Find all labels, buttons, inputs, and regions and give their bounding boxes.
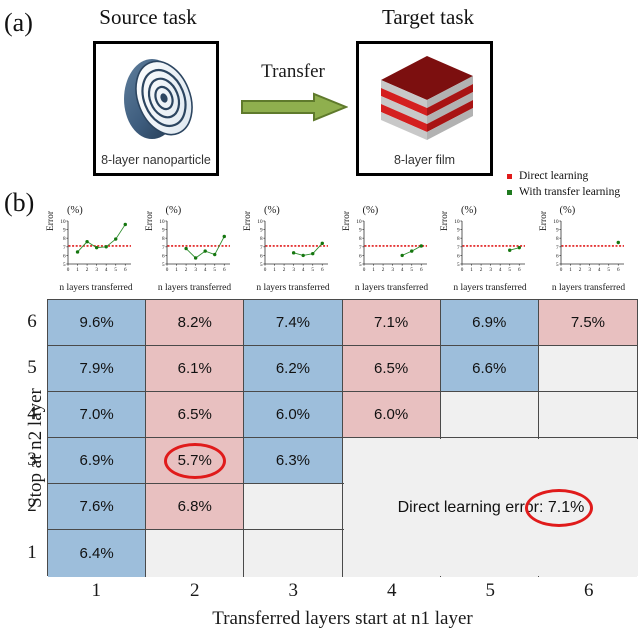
svg-text:5: 5: [311, 267, 314, 273]
table-row: 7.9%6.1%6.2%6.5%6.6%: [48, 346, 637, 392]
svg-text:10: 10: [553, 219, 559, 225]
svg-text:5: 5: [410, 267, 413, 273]
target-box-caption: 8-layer film: [359, 153, 490, 167]
heatmap-cell-value: 6.4%: [79, 545, 113, 562]
legend-item-direct-learning: Direct learning: [505, 168, 640, 184]
heatmap-cell-value: 6.3%: [276, 452, 310, 469]
miniplot-x-axis-label: n layers transferred: [540, 283, 638, 293]
legend-label-direct-learning: Direct learning: [519, 170, 588, 182]
svg-text:8: 8: [556, 236, 559, 242]
heatmap-cell-value: 6.5%: [178, 406, 212, 423]
miniplot-canvas: 56789100123456: [550, 218, 626, 276]
heatmap-cell-n1-6-n2-4[interactable]: [539, 392, 637, 438]
svg-text:0: 0: [165, 267, 168, 273]
miniplot-row: (%)Error56789100123456n layers transferr…: [47, 205, 638, 298]
miniplot-5: (%)Error56789100123456n layers transferr…: [441, 205, 540, 298]
svg-text:5: 5: [213, 267, 216, 273]
svg-text:8: 8: [162, 236, 165, 242]
svg-text:7: 7: [260, 245, 263, 251]
svg-text:1: 1: [76, 267, 79, 273]
svg-text:6: 6: [457, 253, 460, 259]
svg-text:9: 9: [162, 228, 165, 234]
miniplot-3: (%)Error56789100123456n layers transferr…: [244, 205, 343, 298]
heatmap-cell-n1-1-n2-6[interactable]: 9.6%: [48, 300, 146, 346]
miniplot-unit-label: (%): [461, 205, 477, 216]
y-axis-title: Stop at n2 layer: [25, 358, 47, 538]
miniplot-y-axis-label: Error: [46, 211, 56, 231]
heatmap-cell-n1-1-n2-2[interactable]: 7.6%: [48, 484, 146, 530]
heatmap-cell-n1-2-n2-4[interactable]: 6.5%: [146, 392, 244, 438]
heatmap-cell-value: 9.6%: [79, 314, 113, 331]
heatmap-cell-n1-3-n2-2[interactable]: [244, 484, 342, 530]
note-highlight-ellipse: [525, 489, 593, 527]
heatmap-cell-n1-1-n2-4[interactable]: 7.0%: [48, 392, 146, 438]
heatmap-cell-n1-5-n2-5[interactable]: 6.6%: [441, 346, 539, 392]
svg-text:6: 6: [162, 253, 165, 259]
miniplot-canvas: 56789100123456: [353, 218, 429, 276]
miniplot-canvas: 56789100123456: [57, 218, 133, 276]
heatmap-cell-value: 7.1%: [374, 314, 408, 331]
miniplot-y-axis-label: Error: [440, 211, 450, 231]
heatmap-cell-value: 6.9%: [79, 452, 113, 469]
legend-swatch-red: [507, 174, 512, 179]
heatmap-cell-value: 8.2%: [178, 314, 212, 331]
legend-item-transfer-learning: With transfer learning: [505, 184, 640, 200]
miniplot-1: (%)Error56789100123456n layers transferr…: [47, 205, 146, 298]
miniplot-4: (%)Error56789100123456n layers transferr…: [343, 205, 442, 298]
miniplot-unit-label: (%): [67, 205, 83, 216]
svg-text:0: 0: [559, 267, 562, 273]
miniplot-x-axis-label: n layers transferred: [146, 283, 244, 293]
svg-text:6: 6: [359, 253, 362, 259]
heatmap-cell-value: 6.2%: [276, 360, 310, 377]
heatmap-cell-value: 7.6%: [79, 498, 113, 515]
svg-text:5: 5: [162, 262, 165, 268]
svg-text:5: 5: [63, 262, 66, 268]
x-axis-tick-4: 4: [343, 580, 442, 606]
svg-text:6: 6: [124, 267, 127, 273]
svg-text:9: 9: [63, 228, 66, 234]
heatmap-cell-value: 7.0%: [79, 406, 113, 423]
transfer-arrow-icon: [240, 92, 348, 122]
svg-text:3: 3: [489, 267, 492, 273]
svg-text:2: 2: [381, 267, 384, 273]
svg-text:2: 2: [480, 267, 483, 273]
svg-text:7: 7: [457, 245, 460, 251]
miniplot-unit-label: (%): [264, 205, 280, 216]
svg-text:1: 1: [569, 267, 572, 273]
svg-text:9: 9: [556, 228, 559, 234]
x-axis-ticks: 123456: [47, 580, 638, 606]
svg-text:6: 6: [518, 267, 521, 273]
svg-text:6: 6: [321, 267, 324, 273]
legend: Direct learning With transfer learning: [505, 168, 640, 200]
svg-text:6: 6: [616, 267, 619, 273]
x-axis-tick-5: 5: [441, 580, 540, 606]
svg-text:8: 8: [359, 236, 362, 242]
svg-text:0: 0: [67, 267, 70, 273]
svg-text:7: 7: [359, 245, 362, 251]
heatmap-cell-n1-3-n2-5[interactable]: 6.2%: [244, 346, 342, 392]
heatmap-cell-value: 6.9%: [472, 314, 506, 331]
heatmap-cell-value: 7.4%: [276, 314, 310, 331]
svg-text:5: 5: [556, 262, 559, 268]
target-task-title: Target task: [348, 5, 508, 30]
svg-text:4: 4: [203, 267, 206, 273]
svg-text:4: 4: [302, 267, 305, 273]
miniplot-x-axis-label: n layers transferred: [47, 283, 145, 293]
svg-text:1: 1: [273, 267, 276, 273]
heatmap-cell-n1-6-n2-5[interactable]: [539, 346, 637, 392]
svg-text:10: 10: [257, 219, 263, 225]
svg-text:4: 4: [400, 267, 403, 273]
svg-text:10: 10: [454, 219, 460, 225]
legend-swatch-green: [507, 190, 512, 195]
svg-text:5: 5: [359, 262, 362, 268]
heatmap-cell-n1-2-n2-6[interactable]: 8.2%: [146, 300, 244, 346]
table-row: 7.0%6.5%6.0%6.0%: [48, 392, 637, 438]
best-value-highlight-ellipse: [164, 443, 226, 479]
miniplot-y-axis-label: Error: [243, 211, 253, 231]
svg-text:6: 6: [260, 253, 263, 259]
multilayer-film-icon: [375, 50, 479, 146]
heatmap-cell-n1-3-n2-6[interactable]: 7.4%: [244, 300, 342, 346]
svg-text:1: 1: [175, 267, 178, 273]
heatmap-cell-n1-2-n2-1[interactable]: [146, 530, 244, 576]
table-row: 9.6%8.2%7.4%7.1%6.9%7.5%: [48, 300, 637, 346]
heatmap-cell-value: 6.1%: [178, 360, 212, 377]
heatmap-cell-value: 6.5%: [374, 360, 408, 377]
heatmap-cell-n1-4-n2-6[interactable]: 7.1%: [343, 300, 441, 346]
svg-text:9: 9: [457, 228, 460, 234]
source-task-title: Source task: [68, 5, 228, 30]
x-axis-tick-3: 3: [244, 580, 343, 606]
svg-text:0: 0: [362, 267, 365, 273]
heatmap-cell-value: 6.0%: [374, 406, 408, 423]
miniplot-y-axis-label: Error: [539, 211, 549, 231]
miniplot-canvas: 56789100123456: [451, 218, 527, 276]
transfer-label: Transfer: [238, 61, 348, 83]
heatmap-cell-n1-1-n2-1[interactable]: 6.4%: [48, 530, 146, 576]
svg-text:7: 7: [63, 245, 66, 251]
x-axis-tick-6: 6: [540, 580, 639, 606]
svg-text:6: 6: [63, 253, 66, 259]
svg-text:5: 5: [260, 262, 263, 268]
heatmap-cell-value: 6.6%: [472, 360, 506, 377]
svg-text:0: 0: [461, 267, 464, 273]
svg-text:4: 4: [597, 267, 600, 273]
svg-text:3: 3: [391, 267, 394, 273]
heatmap-cell-n1-3-n2-3[interactable]: 6.3%: [244, 438, 342, 484]
heatmap-cell-value: 6.0%: [276, 406, 310, 423]
nanoparticle-icon: [112, 52, 206, 144]
miniplot-x-axis-label: n layers transferred: [244, 283, 342, 293]
heatmap-cell-n1-2-n2-3[interactable]: 5.7%: [146, 438, 244, 484]
error-heatmap-table: 9.6%8.2%7.4%7.1%6.9%7.5%7.9%6.1%6.2%6.5%…: [47, 299, 638, 576]
miniplot-2: (%)Error56789100123456n layers transferr…: [146, 205, 245, 298]
legend-label-transfer-learning: With transfer learning: [519, 186, 620, 198]
panel-label-a: (a): [4, 8, 33, 38]
direct-learning-note: Direct learning error: 7.1%: [344, 439, 638, 576]
svg-text:2: 2: [578, 267, 581, 273]
svg-text:6: 6: [419, 267, 422, 273]
svg-text:3: 3: [588, 267, 591, 273]
svg-text:4: 4: [499, 267, 502, 273]
miniplot-unit-label: (%): [560, 205, 576, 216]
miniplot-unit-label: (%): [363, 205, 379, 216]
x-axis-tick-1: 1: [47, 580, 146, 606]
svg-text:5: 5: [114, 267, 117, 273]
svg-text:6: 6: [556, 253, 559, 259]
heatmap-cell-n1-3-n2-4[interactable]: 6.0%: [244, 392, 342, 438]
y-axis-tick-6: 6: [20, 299, 44, 345]
svg-text:3: 3: [292, 267, 295, 273]
heatmap-cell-n1-4-n2-5[interactable]: 6.5%: [343, 346, 441, 392]
heatmap-cell-n1-5-n2-6[interactable]: 6.9%: [441, 300, 539, 346]
source-box-caption: 8-layer nanoparticle: [96, 153, 216, 167]
x-axis-tick-2: 2: [146, 580, 245, 606]
x-axis-title: Transferred layers start at n1 layer: [47, 608, 638, 630]
svg-text:7: 7: [556, 245, 559, 251]
svg-text:5: 5: [607, 267, 610, 273]
miniplot-canvas: 56789100123456: [254, 218, 330, 276]
heatmap-cell-n1-5-n2-4[interactable]: [441, 392, 539, 438]
svg-text:2: 2: [86, 267, 89, 273]
svg-text:10: 10: [356, 219, 362, 225]
svg-text:5: 5: [457, 262, 460, 268]
miniplot-x-axis-label: n layers transferred: [441, 283, 539, 293]
heatmap-cell-n1-4-n2-4[interactable]: 6.0%: [343, 392, 441, 438]
svg-text:3: 3: [95, 267, 98, 273]
svg-text:10: 10: [60, 219, 66, 225]
miniplot-unit-label: (%): [166, 205, 182, 216]
heatmap-cell-n1-3-n2-1[interactable]: [244, 530, 342, 576]
heatmap-cell-value: 6.8%: [178, 498, 212, 515]
heatmap-cell-n1-6-n2-6[interactable]: 7.5%: [539, 300, 637, 346]
miniplot-y-axis-label: Error: [145, 211, 155, 231]
heatmap-cell-n1-1-n2-3[interactable]: 6.9%: [48, 438, 146, 484]
miniplot-6: (%)Error56789100123456n layers transferr…: [540, 205, 639, 298]
svg-text:6: 6: [222, 267, 225, 273]
miniplot-y-axis-label: Error: [342, 211, 352, 231]
heatmap-cell-value: 7.9%: [79, 360, 113, 377]
heatmap-cell-n1-2-n2-5[interactable]: 6.1%: [146, 346, 244, 392]
svg-text:0: 0: [264, 267, 267, 273]
svg-text:1: 1: [372, 267, 375, 273]
svg-text:2: 2: [184, 267, 187, 273]
heatmap-cell-n1-2-n2-2[interactable]: 6.8%: [146, 484, 244, 530]
svg-text:1: 1: [470, 267, 473, 273]
miniplot-canvas: 56789100123456: [156, 218, 232, 276]
svg-text:9: 9: [359, 228, 362, 234]
svg-text:3: 3: [194, 267, 197, 273]
svg-text:5: 5: [508, 267, 511, 273]
svg-text:9: 9: [260, 228, 263, 234]
svg-text:8: 8: [457, 236, 460, 242]
heatmap-cell-n1-1-n2-5[interactable]: 7.9%: [48, 346, 146, 392]
svg-text:8: 8: [63, 236, 66, 242]
svg-text:7: 7: [162, 245, 165, 251]
svg-text:4: 4: [105, 267, 108, 273]
svg-text:2: 2: [283, 267, 286, 273]
svg-text:8: 8: [260, 236, 263, 242]
panel-label-b: (b): [4, 188, 34, 218]
source-task-box: 8-layer nanoparticle: [93, 41, 219, 176]
miniplot-x-axis-label: n layers transferred: [343, 283, 441, 293]
svg-text:10: 10: [159, 219, 165, 225]
target-task-box: 8-layer film: [356, 41, 493, 176]
heatmap-cell-value: 7.5%: [571, 314, 605, 331]
